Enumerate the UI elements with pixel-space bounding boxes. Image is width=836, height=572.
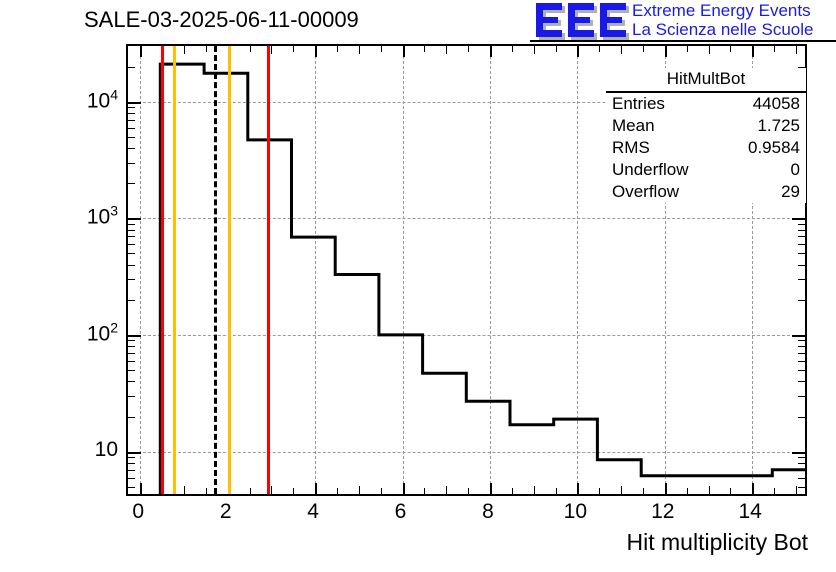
- marker-line-orange-left: [173, 46, 176, 494]
- stats-row: Entries44058: [606, 93, 806, 115]
- marker-line-red-right: [267, 46, 270, 494]
- stats-row-key: Overflow: [612, 182, 679, 202]
- x-tick-label: 4: [307, 500, 319, 524]
- stats-row-key: RMS: [612, 138, 650, 158]
- eee-logo-line1: Extreme Energy Events: [632, 1, 813, 20]
- x-tick-label: 2: [220, 500, 232, 524]
- stats-row-value: 29: [781, 182, 800, 202]
- eee-logo-letter-3: [600, 3, 626, 37]
- eee-logo-letter-2: [568, 3, 594, 37]
- y-tick-label: 102: [52, 319, 118, 346]
- eee-logo: Extreme Energy Events La Scienza nelle S…: [536, 1, 836, 41]
- y-tick-label: 10: [52, 438, 118, 462]
- x-tick-label: 0: [132, 500, 144, 524]
- stats-row-key: Underflow: [612, 160, 689, 180]
- y-tick-label: 103: [52, 203, 118, 230]
- stats-row-value: 44058: [753, 94, 800, 114]
- eee-letter-main-icon: [568, 3, 594, 37]
- marker-line-black-dashed-mean: [214, 46, 217, 494]
- eee-logo-letters: [536, 3, 628, 39]
- stats-rows: Entries44058Mean1.725RMS0.9584Underflow0…: [606, 93, 806, 203]
- header-divider: [530, 40, 836, 42]
- x-tick-label: 12: [651, 500, 674, 524]
- eee-logo-text: Extreme Energy Events La Scienza nelle S…: [632, 1, 813, 39]
- y-tick-label: 104: [52, 86, 118, 113]
- stats-box: HitMultBot Entries44058Mean1.725RMS0.958…: [606, 68, 806, 203]
- stats-row-value: 0.9584: [748, 138, 800, 158]
- x-axis-title: Hit multiplicity Bot: [627, 529, 808, 556]
- stats-row: RMS0.9584: [606, 137, 806, 159]
- stats-row-value: 0: [791, 160, 800, 180]
- root-canvas: SALE-03-2025-06-11-00009: [0, 0, 836, 572]
- x-tick-label: 8: [482, 500, 494, 524]
- x-tick-label: 6: [395, 500, 407, 524]
- eee-letter-main-icon: [536, 3, 562, 37]
- stats-row: Underflow0: [606, 159, 806, 181]
- x-tick-label: 14: [738, 500, 761, 524]
- marker-line-red-left: [161, 46, 164, 494]
- stats-title: HitMultBot: [606, 68, 806, 93]
- stats-row: Mean1.725: [606, 115, 806, 137]
- stats-row-key: Mean: [612, 116, 655, 136]
- page-title: SALE-03-2025-06-11-00009: [84, 7, 359, 33]
- stats-row-value: 1.725: [757, 116, 800, 136]
- marker-line-orange-right: [228, 46, 231, 494]
- stats-row: Overflow29: [606, 181, 806, 203]
- eee-logo-line2: La Scienza nelle Scuole: [632, 20, 813, 39]
- eee-letter-main-icon: [600, 3, 626, 37]
- eee-logo-letter-1: [536, 3, 562, 37]
- x-tick-label: 10: [564, 500, 587, 524]
- stats-row-key: Entries: [612, 94, 665, 114]
